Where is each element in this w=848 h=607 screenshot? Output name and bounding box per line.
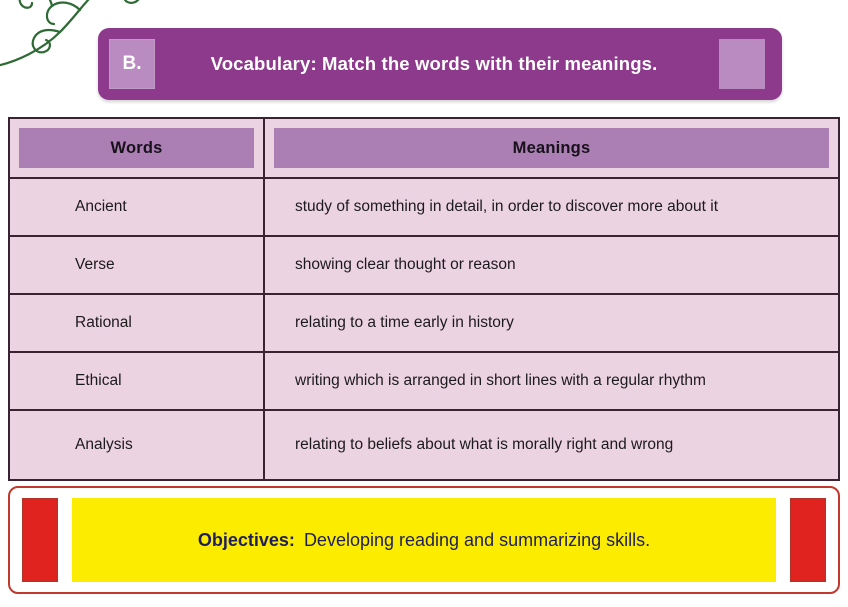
word-text: Rational	[10, 314, 263, 332]
objectives-banner: Objectives:Developing reading and summar…	[8, 486, 840, 594]
table-header-meanings-label: Meanings	[274, 128, 829, 168]
word-text: Ancient	[10, 198, 263, 216]
word-text: Ethical	[10, 372, 263, 390]
table-row: Verse showing clear thought or reason	[9, 236, 839, 294]
objectives-label: Objectives:	[198, 530, 295, 550]
vocabulary-table: Words Meanings Ancient study of somethin…	[8, 117, 840, 481]
table-row: Rational relating to a time early in his…	[9, 294, 839, 352]
meaning-text: relating to a time early in history	[265, 314, 838, 332]
section-banner-end-box	[719, 39, 765, 89]
table-cell-meaning: relating to beliefs about what is morall…	[264, 410, 839, 480]
table-row: Ancient study of something in detail, in…	[9, 178, 839, 236]
objectives-text: Developing reading and summarizing skill…	[304, 530, 650, 550]
meaning-text: writing which is arranged in short lines…	[265, 372, 838, 390]
table-cell-meaning: writing which is arranged in short lines…	[264, 352, 839, 410]
objectives-line: Objectives:Developing reading and summar…	[198, 530, 650, 551]
table-cell-word: Ancient	[9, 178, 264, 236]
meaning-text: study of something in detail, in order t…	[265, 198, 838, 216]
word-text: Analysis	[10, 436, 263, 454]
table-cell-meaning: showing clear thought or reason	[264, 236, 839, 294]
table-header-row: Words Meanings	[9, 118, 839, 178]
table-cell-word: Analysis	[9, 410, 264, 480]
table-cell-word: Verse	[9, 236, 264, 294]
section-letter-badge: B.	[109, 39, 155, 89]
meaning-text: relating to beliefs about what is morall…	[265, 436, 838, 454]
objectives-left-block	[22, 498, 58, 582]
table-header-words: Words	[9, 118, 264, 178]
table-header-words-label: Words	[19, 128, 254, 168]
meaning-text: showing clear thought or reason	[265, 256, 838, 274]
word-text: Verse	[10, 256, 263, 274]
table-cell-meaning: relating to a time early in history	[264, 294, 839, 352]
table-header-meanings: Meanings	[264, 118, 839, 178]
table-row: Ethical writing which is arranged in sho…	[9, 352, 839, 410]
table-row: Analysis relating to beliefs about what …	[9, 410, 839, 480]
objectives-panel: Objectives:Developing reading and summar…	[72, 498, 776, 582]
section-banner-title: Vocabulary: Match the words with their m…	[155, 53, 719, 75]
table-cell-meaning: study of something in detail, in order t…	[264, 178, 839, 236]
clipped-top-text-strip: stories and the poetry of great poets	[0, 0, 848, 7]
objectives-right-block	[790, 498, 826, 582]
table-cell-word: Ethical	[9, 352, 264, 410]
table-cell-word: Rational	[9, 294, 264, 352]
clipped-top-text: stories and the poetry of great poets	[120, 0, 848, 2]
section-banner: B. Vocabulary: Match the words with thei…	[98, 28, 782, 100]
